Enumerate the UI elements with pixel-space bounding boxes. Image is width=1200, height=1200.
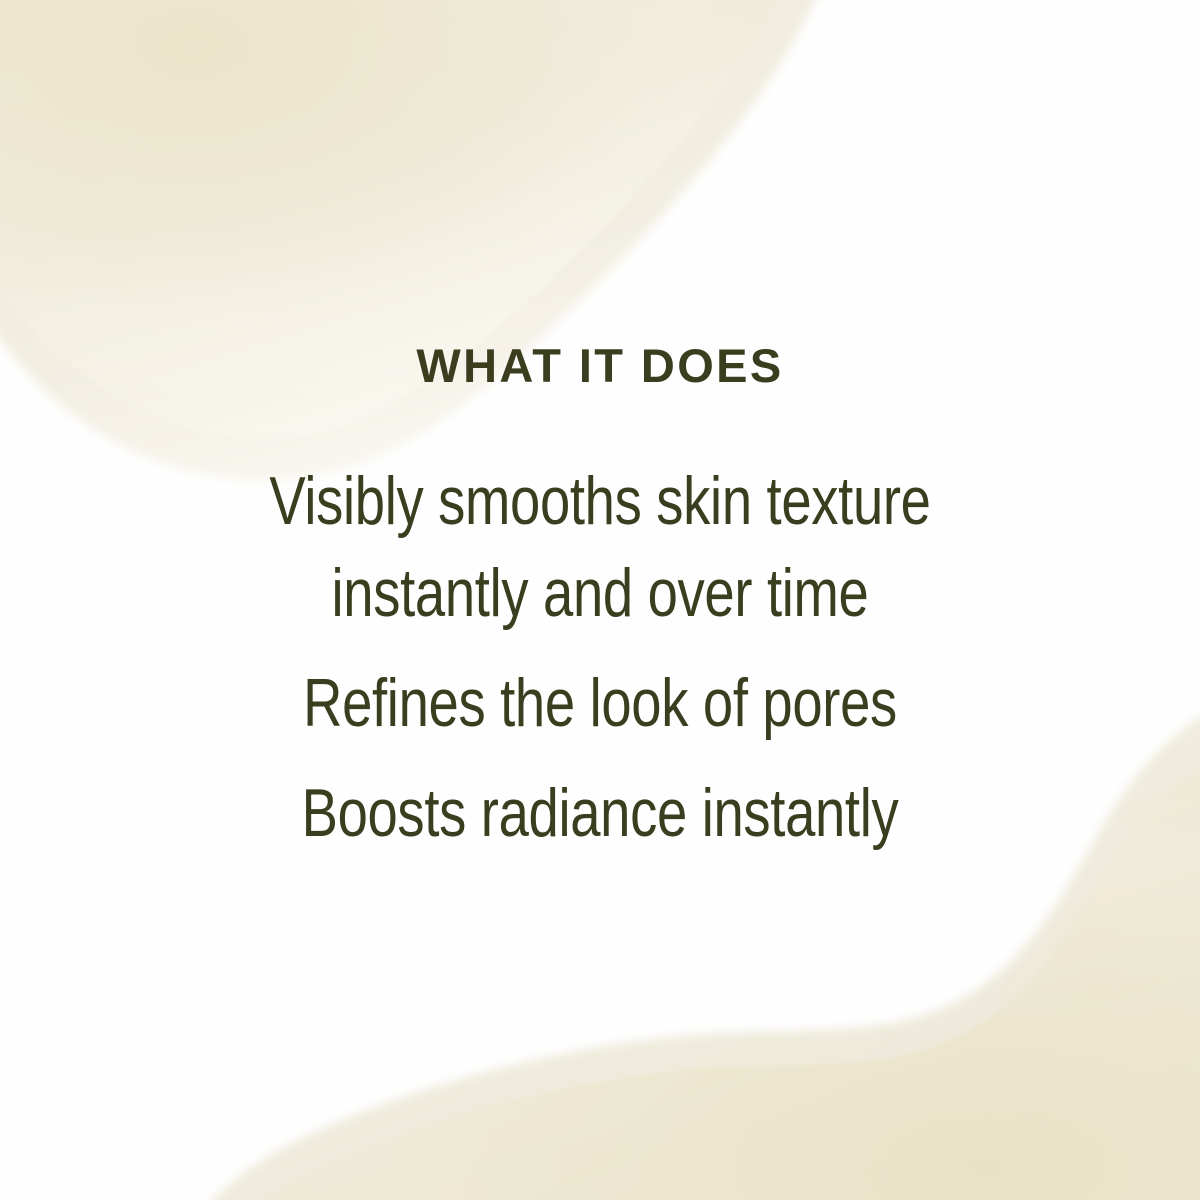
benefit-line: Visibly smooths skin texture	[120, 455, 1080, 547]
benefit-line: Refines the look of pores	[120, 657, 1080, 749]
section-eyebrow-heading: WHAT IT DOES	[0, 340, 1200, 392]
benefit-item: Boosts radiance instantly	[120, 767, 1080, 859]
benefits-list: Visibly smooths skin texture instantly a…	[0, 455, 1200, 859]
benefit-item: Refines the look of pores	[120, 657, 1080, 749]
benefit-line: instantly and over time	[120, 547, 1080, 639]
benefit-item: Visibly smooths skin texture instantly a…	[120, 455, 1080, 639]
benefit-line: Boosts radiance instantly	[120, 767, 1080, 859]
content-block: WHAT IT DOES Visibly smooths skin textur…	[0, 0, 1200, 1200]
benefits-card: WHAT IT DOES Visibly smooths skin textur…	[0, 0, 1200, 1200]
